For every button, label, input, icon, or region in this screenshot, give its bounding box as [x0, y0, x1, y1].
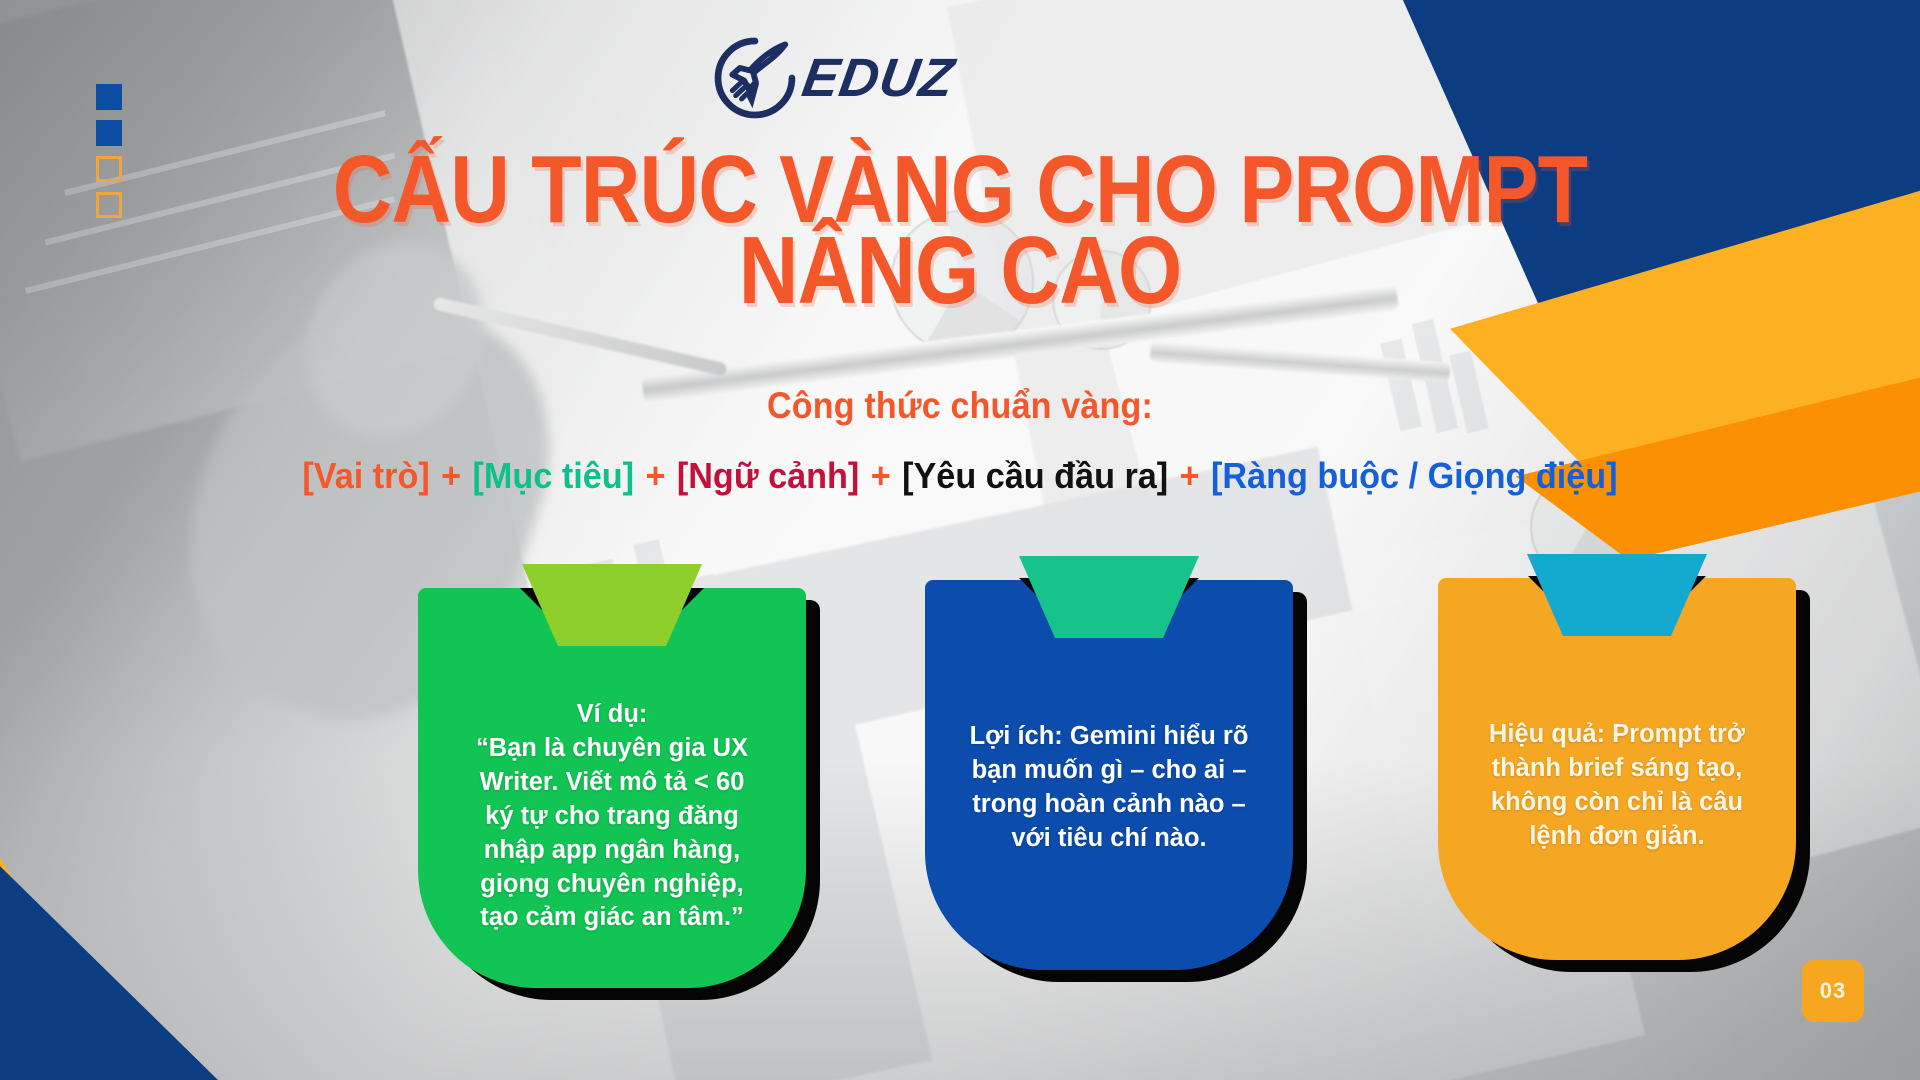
- formula-plus-1: +: [441, 455, 461, 496]
- card-text: Hiệu quả: Prompt trở thành brief sáng tạ…: [1438, 718, 1796, 854]
- card-loi-ich[interactable]: Lợi ích: Gemini hiểu rõ bạn muốn gì – ch…: [925, 580, 1293, 970]
- formula-plus-4: +: [1180, 455, 1200, 496]
- card-text: Ví dụ: “Bạn là chuyên gia UX Writer. Viế…: [418, 698, 806, 935]
- card-banner-area: [1438, 554, 1796, 644]
- card-banner: [1019, 556, 1199, 638]
- formula-line: [Vai trò] + [Mục tiêu] + [Ngữ cảnh] + [Y…: [48, 455, 1872, 497]
- deco-square-filled-2: [96, 120, 122, 146]
- card-vi-du[interactable]: Ví dụ: “Bạn là chuyên gia UX Writer. Viế…: [418, 588, 806, 988]
- formula-token-role: [Vai trò]: [302, 455, 429, 496]
- card-text: Lợi ích: Gemini hiểu rõ bạn muốn gì – ch…: [925, 720, 1293, 856]
- formula-token-output: [Yêu cầu đầu ra]: [902, 455, 1168, 496]
- slide-canvas: EDUZ CẤU TRÚC VÀNG CHO PROMPT NÂNG CAO C…: [0, 0, 1920, 1080]
- formula-token-context: [Ngữ cảnh]: [677, 455, 859, 496]
- formula-plus-3: +: [871, 455, 891, 496]
- deco-square-filled-1: [96, 84, 122, 110]
- card-hieu-qua[interactable]: Hiệu quả: Prompt trở thành brief sáng tạ…: [1438, 578, 1796, 960]
- brand-wordmark: EDUZ: [799, 51, 959, 105]
- card-banner: [1527, 554, 1707, 636]
- formula-token-goal: [Mục tiêu]: [473, 455, 634, 496]
- deco-square-outline-2: [96, 192, 122, 218]
- card-banner-area: [925, 556, 1293, 646]
- formula-token-constraints: [Ràng buộc / Giọng điệu]: [1211, 455, 1618, 496]
- subheading: Công thức chuẩn vàng:: [77, 385, 1843, 427]
- formula-plus-2: +: [645, 455, 665, 496]
- deco-square-outline-1: [96, 156, 122, 182]
- page-number-badge: 03: [1802, 960, 1864, 1022]
- card-banner-area: [418, 564, 806, 654]
- brand-logo: EDUZ: [713, 36, 954, 120]
- page-title: CẤU TRÚC VÀNG CHO PROMPT NÂNG CAO: [134, 150, 1785, 311]
- card-banner: [522, 564, 702, 646]
- rocket-in-circle-icon: [713, 36, 797, 120]
